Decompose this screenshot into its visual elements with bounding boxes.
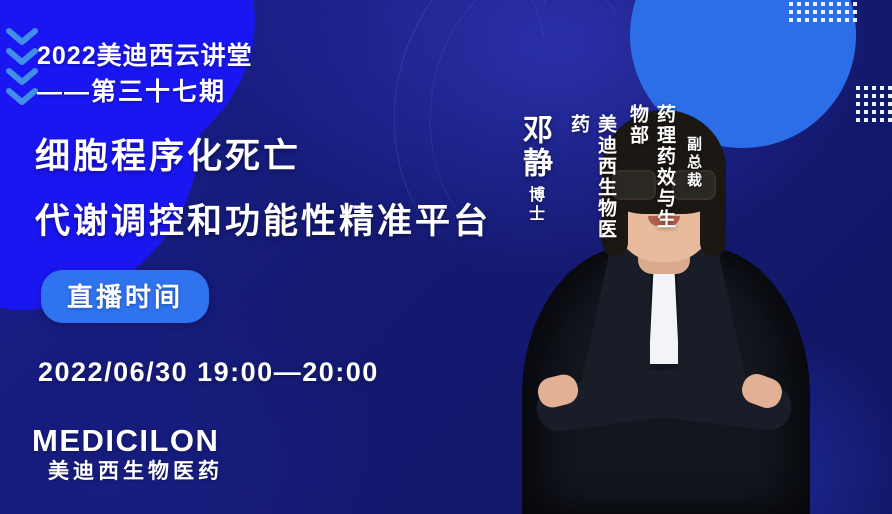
decorative-dot [789, 2, 793, 6]
decorative-dot [864, 118, 868, 122]
decorative-dot [837, 10, 841, 14]
decorative-dot [856, 94, 860, 98]
brand-logo: MEDICILON 美迪西生物医药 [32, 424, 223, 486]
dot-grid-mid-right [856, 86, 892, 122]
chevron-down-icon [6, 68, 38, 86]
decorative-dot [837, 18, 841, 22]
decorative-dot [872, 110, 876, 114]
decorative-dot [872, 86, 876, 90]
speaker-role: 副总裁 [683, 136, 704, 190]
live-time-badge: 直播时间 [41, 270, 209, 323]
decorative-dot [888, 118, 892, 122]
decorative-dot [821, 10, 825, 14]
decorative-dot [837, 2, 841, 6]
chevron-down-icon [6, 88, 38, 106]
speaker-degree: 博士 [522, 186, 546, 224]
speaker-credentials: 副总裁 药理药效与生物部 美迪西生物医药 邓静 博士 [512, 88, 704, 248]
brand-logo-sub: 美迪西生物医药 [32, 458, 223, 486]
decorative-dot [845, 2, 849, 6]
speaker-name-block: 邓静 博士 [512, 114, 556, 224]
decorative-dot [888, 110, 892, 114]
decorative-dot [813, 2, 817, 6]
decorative-dot [829, 2, 833, 6]
decorative-dot [813, 10, 817, 14]
series-title-line2: ——第三十七期 [37, 74, 253, 110]
decorative-dot [888, 94, 892, 98]
decorative-dot [853, 18, 857, 22]
decorative-dot [864, 94, 868, 98]
page-title: 细胞程序化死亡 代谢调控和功能性精准平台 [35, 124, 491, 254]
decorative-dot [872, 102, 876, 106]
decorative-dot [880, 86, 884, 90]
decorative-dot [872, 94, 876, 98]
decorative-dot [880, 94, 884, 98]
decorative-dot [797, 2, 801, 6]
chevron-stack [6, 28, 38, 106]
chevron-down-icon [6, 48, 38, 66]
decorative-dot [880, 118, 884, 122]
decorative-dot [880, 102, 884, 106]
decorative-dot [829, 10, 833, 14]
decorative-dot [805, 10, 809, 14]
decorative-dot [797, 10, 801, 14]
speaker-department: 药理药效与生物部 [624, 104, 678, 248]
decorative-dot [853, 10, 857, 14]
decorative-dot [821, 18, 825, 22]
decorative-dot [856, 118, 860, 122]
decorative-dot [856, 110, 860, 114]
decorative-dot [805, 2, 809, 6]
decorative-dot [789, 10, 793, 14]
decorative-dot [856, 102, 860, 106]
page-title-line1: 细胞程序化死亡 [35, 124, 491, 189]
dot-grid-top-right [789, 2, 857, 22]
decorative-dot [813, 18, 817, 22]
decorative-dot [797, 18, 801, 22]
decorative-dot [829, 18, 833, 22]
decorative-dot [856, 86, 860, 90]
decorative-dot [789, 18, 793, 22]
decorative-dot [872, 118, 876, 122]
decorative-dot [864, 110, 868, 114]
chevron-down-icon [6, 28, 38, 46]
decorative-dot [805, 18, 809, 22]
decorative-dot [845, 10, 849, 14]
decorative-dot [845, 18, 849, 22]
speaker-company: 美迪西生物医药 [565, 114, 619, 248]
decorative-dot [853, 2, 857, 6]
series-title: 2022美迪西云讲堂 ——第三十七期 [37, 38, 253, 110]
live-datetime: 2022/06/30 19:00—20:00 [38, 357, 379, 388]
decorative-dot [864, 102, 868, 106]
decorative-dot [864, 86, 868, 90]
series-title-line1: 2022美迪西云讲堂 [37, 38, 253, 74]
page-title-line2: 代谢调控和功能性精准平台 [35, 189, 491, 254]
decorative-dot [821, 2, 825, 6]
webinar-poster: 2022美迪西云讲堂 ——第三十七期 细胞程序化死亡 代谢调控和功能性精准平台 … [0, 0, 892, 514]
decorative-dot [888, 102, 892, 106]
decorative-dot [888, 86, 892, 90]
speaker-name: 邓静 [512, 114, 556, 180]
brand-logo-main: MEDICILON [32, 424, 223, 458]
decorative-dot [880, 110, 884, 114]
